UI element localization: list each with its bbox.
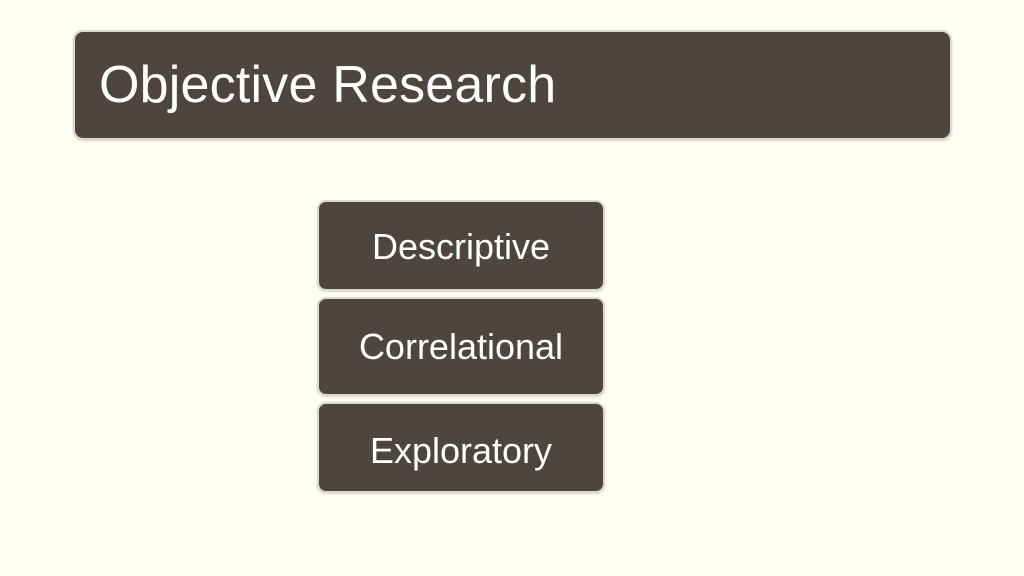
item-stack: Descriptive Correlational Exploratory <box>317 200 605 493</box>
list-item[interactable]: Descriptive <box>317 200 605 291</box>
page-title: Objective Research <box>75 58 556 113</box>
slide-canvas: Objective Research Descriptive Correlati… <box>0 0 1024 576</box>
list-item[interactable]: Correlational <box>317 297 605 396</box>
list-item-label: Correlational <box>328 326 594 368</box>
list-item-label: Descriptive <box>319 226 603 268</box>
title-banner: Objective Research <box>73 30 952 140</box>
list-item-label: Exploratory <box>319 430 603 472</box>
list-item[interactable]: Exploratory <box>317 402 605 493</box>
